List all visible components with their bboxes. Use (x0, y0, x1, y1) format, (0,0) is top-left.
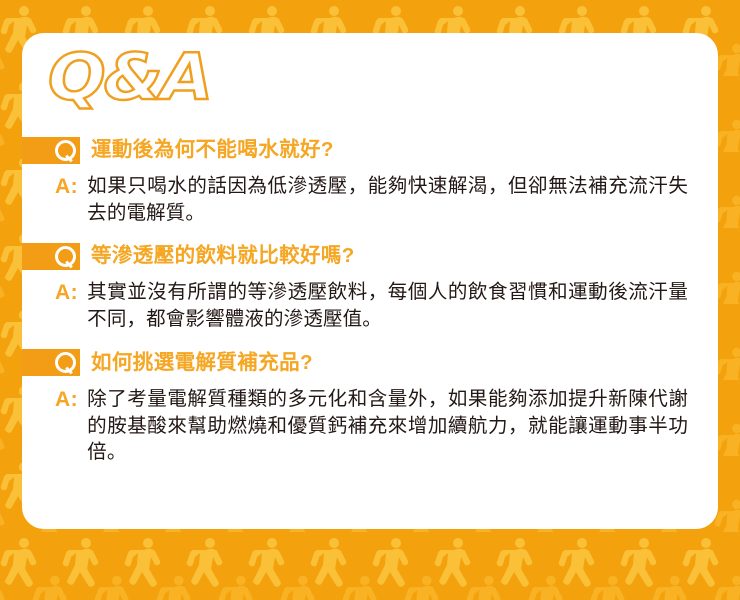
answer-text: 除了考量電解質種類的多元化和含量外，如果能夠添加提升新陳代謝的胺基酸來幫助燃燒和… (87, 386, 688, 466)
question-mark-icon (55, 140, 76, 161)
answer-label: A: (55, 386, 78, 466)
question-mark-icon (55, 246, 76, 267)
answer-row: A: 其實並沒有所謂的等滲透壓飲料，每個人的飲食習慣和運動後流汗量不同，都會影響… (22, 279, 718, 332)
answer-text: 其實並沒有所謂的等滲透壓飲料，每個人的飲食習慣和運動後流汗量不同，都會影響體液的… (87, 279, 688, 332)
qa-poster: Q&A 運動後為何不能喝水就好? A: 如果只喝水的話因為低滲透壓，能夠快速解渴… (0, 0, 740, 600)
question-row: 運動後為何不能喝水就好? (22, 136, 718, 164)
question-badge (22, 349, 80, 376)
question-text: 如何挑選電解質補充品? (91, 353, 313, 374)
qa-item: 等滲透壓的飲料就比較好嗎? A: 其實並沒有所謂的等滲透壓飲料，每個人的飲食習慣… (22, 242, 718, 332)
question-mark-icon (55, 352, 76, 373)
answer-text: 如果只喝水的話因為低滲透壓，能夠快速解渴，但卻無法補充流汗失去的電解質。 (87, 173, 688, 226)
page-title: Q&A (48, 46, 211, 110)
answer-label: A: (55, 279, 78, 332)
question-badge (22, 137, 80, 164)
question-row: 如何挑選電解質補充品? (22, 349, 718, 377)
question-badge (22, 243, 80, 270)
question-row: 等滲透壓的飲料就比較好嗎? (22, 242, 718, 270)
answer-row: A: 除了考量電解質種類的多元化和含量外，如果能夠添加提升新陳代謝的胺基酸來幫助… (22, 386, 718, 466)
qa-item: 如何挑選電解質補充品? A: 除了考量電解質種類的多元化和含量外，如果能夠添加提… (22, 349, 718, 466)
question-text: 等滲透壓的飲料就比較好嗎? (91, 246, 355, 267)
qa-list: 運動後為何不能喝水就好? A: 如果只喝水的話因為低滲透壓，能夠快速解渴，但卻無… (22, 136, 718, 466)
qa-card: Q&A 運動後為何不能喝水就好? A: 如果只喝水的話因為低滲透壓，能夠快速解渴… (22, 33, 718, 529)
qa-item: 運動後為何不能喝水就好? A: 如果只喝水的話因為低滲透壓，能夠快速解渴，但卻無… (22, 136, 718, 226)
answer-row: A: 如果只喝水的話因為低滲透壓，能夠快速解渴，但卻無法補充流汗失去的電解質。 (22, 173, 718, 226)
answer-label: A: (55, 173, 78, 226)
question-text: 運動後為何不能喝水就好? (91, 140, 334, 161)
